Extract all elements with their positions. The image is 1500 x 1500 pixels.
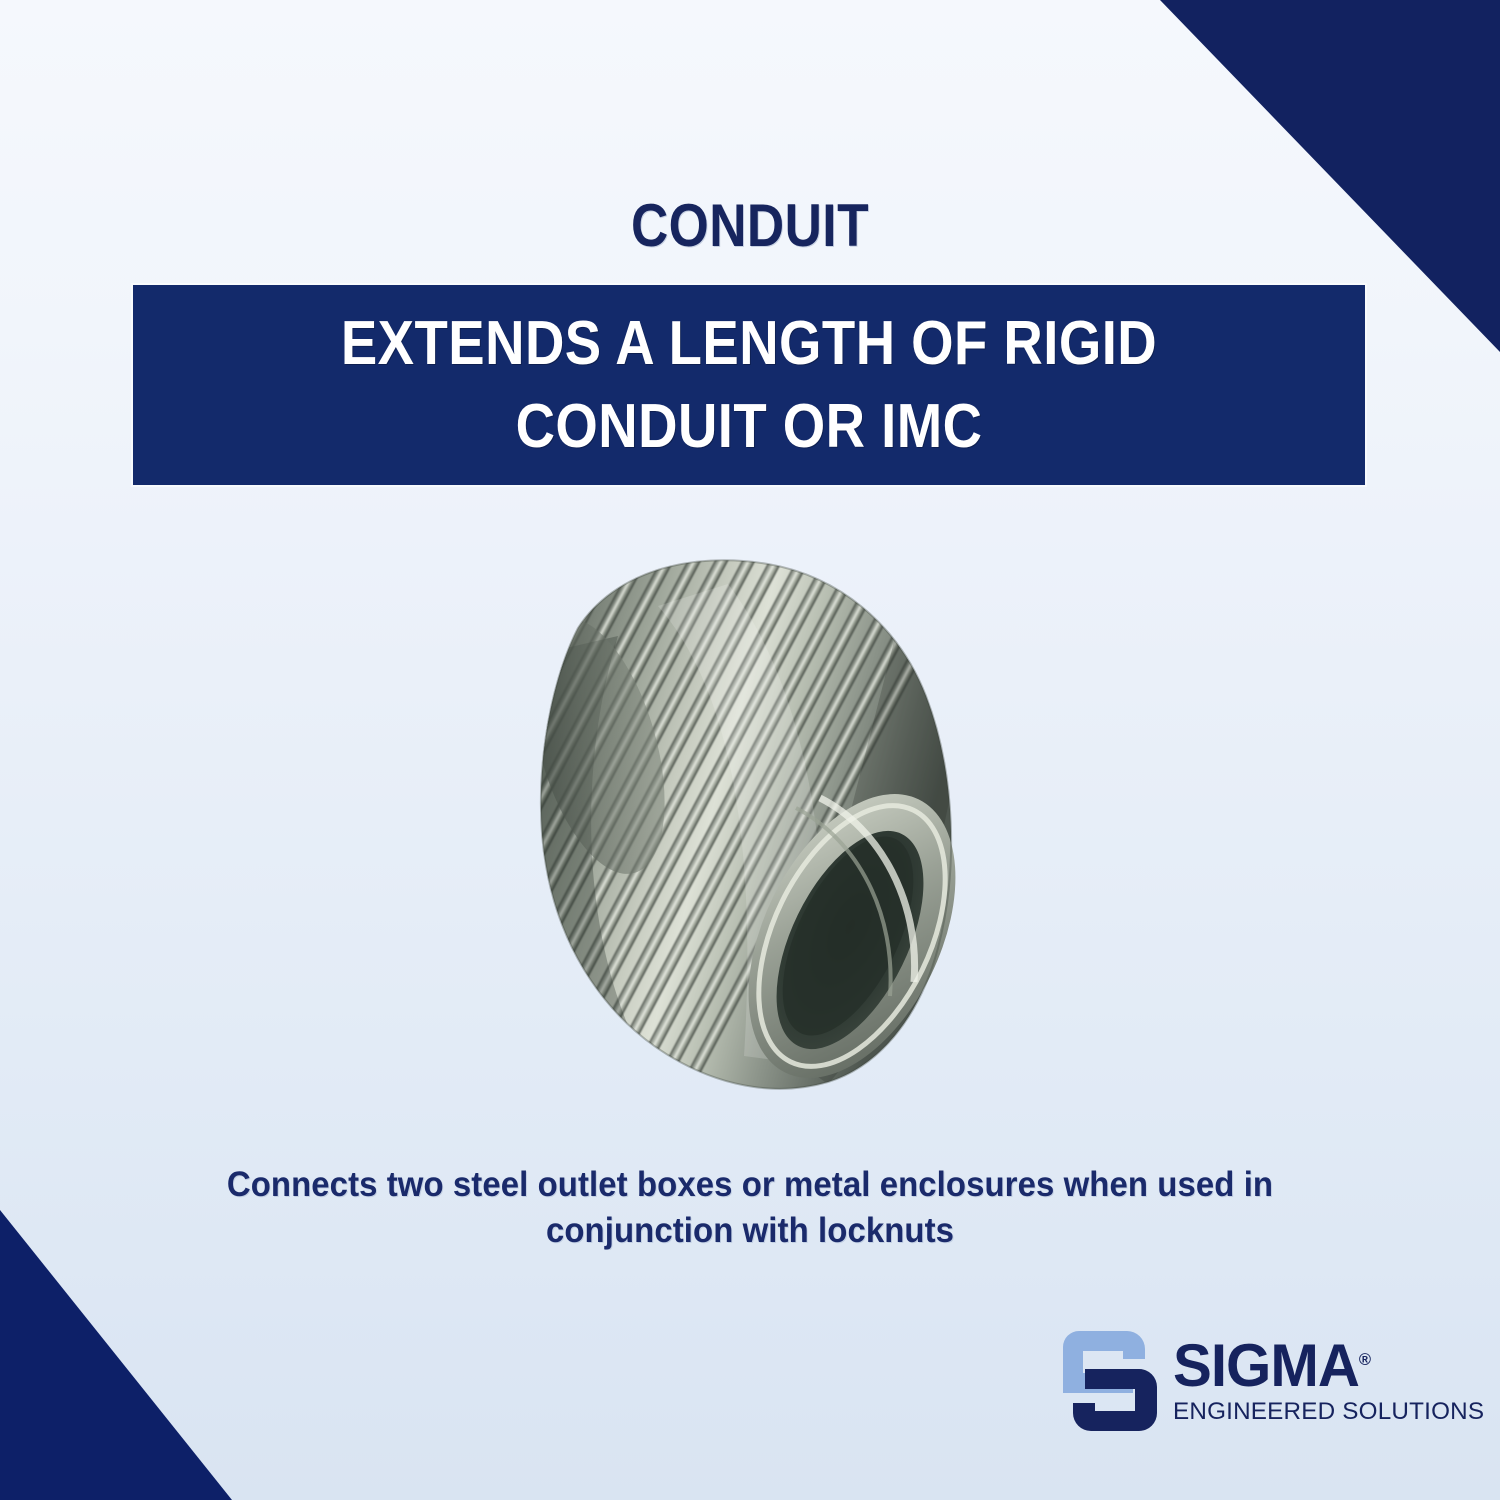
sigma-logo: SIGMA® ENGINEERED SOLUTIONS [1055,1322,1415,1440]
headline-banner-inner: EXTENDS A LENGTH OF RIGID CONDUIT OR IMC [133,302,1365,468]
corner-accent-bottom-left [0,1210,232,1500]
sigma-mark-icon [1055,1325,1163,1437]
product-description: Connects two steel outlet boxes or metal… [224,1162,1277,1254]
headline-line-2: CONDUIT OR IMC [225,385,1274,468]
sigma-wordmark-group: SIGMA® ENGINEERED SOLUTIONS [1173,1337,1487,1426]
eyebrow-label: CONDUIT [105,196,1395,256]
sigma-wordmark: SIGMA® [1173,1337,1478,1394]
product-info-card: CONDUIT EXTENDS A LENGTH OF RIGID CONDUI… [0,0,1500,1500]
sigma-tagline: ENGINEERED SOLUTIONS [1173,1399,1484,1426]
conduit-nipple-photo [428,536,1040,1122]
headline-banner: EXTENDS A LENGTH OF RIGID CONDUIT OR IMC [133,285,1365,485]
headline-line-1: EXTENDS A LENGTH OF RIGID [225,302,1274,385]
sigma-wordmark-text: SIGMA [1173,1332,1359,1399]
registered-trademark-icon: ® [1359,1350,1371,1369]
eyebrow-wrap: CONDUIT [0,196,1500,256]
